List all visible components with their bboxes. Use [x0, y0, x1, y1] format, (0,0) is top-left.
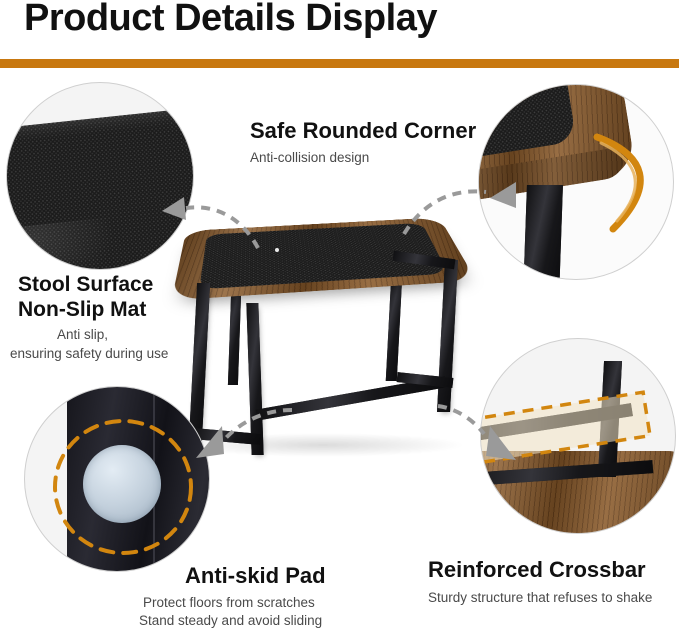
- page-title: Product Details Display: [24, 0, 437, 40]
- crossbar-dashed-highlight: [480, 387, 657, 487]
- product-hero-image: [175, 195, 465, 460]
- floor-shadow: [181, 433, 465, 457]
- callout-sub-stool-surface-line2: ensuring safety during use: [10, 345, 168, 363]
- callout-sub-anti-skid-pad-line2: Stand steady and avoid sliding: [139, 612, 322, 630]
- callout-sub-reinforced-crossbar: Sturdy structure that refuses to shake: [428, 589, 652, 607]
- rounded-corner-highlight-arc: [583, 129, 673, 239]
- callout-title-stool-surface-line1: Stool Surface: [18, 272, 153, 297]
- callout-title-reinforced-crossbar: Reinforced Crossbar: [428, 557, 646, 582]
- photo-anti-skid-pad: [24, 386, 210, 572]
- callout-sub-anti-skid-pad-line1: Protect floors from scratches: [143, 594, 315, 612]
- corner-metal-leg: [523, 185, 563, 280]
- callout-title-safe-rounded-corner: Safe Rounded Corner: [250, 118, 476, 143]
- photo-reinforced-crossbar: [480, 338, 676, 534]
- mat-highlight-dot: [275, 248, 279, 252]
- callout-title-stool-surface-line2: Non-Slip Mat: [18, 297, 146, 322]
- anti-skid-pad-dashed-ring: [49, 413, 197, 561]
- product-details-display-page: Product Details Display Stool Surf: [0, 0, 679, 631]
- header-divider-rule: [0, 59, 679, 68]
- photo-safe-rounded-corner: [478, 84, 674, 280]
- callout-sub-stool-surface-line1: Anti slip,: [57, 326, 108, 344]
- callout-sub-safe-rounded-corner: Anti-collision design: [250, 149, 369, 167]
- photo-stool-surface-non-slip-mat: [6, 82, 194, 270]
- callout-title-anti-skid-pad: Anti-skid Pad: [185, 563, 326, 588]
